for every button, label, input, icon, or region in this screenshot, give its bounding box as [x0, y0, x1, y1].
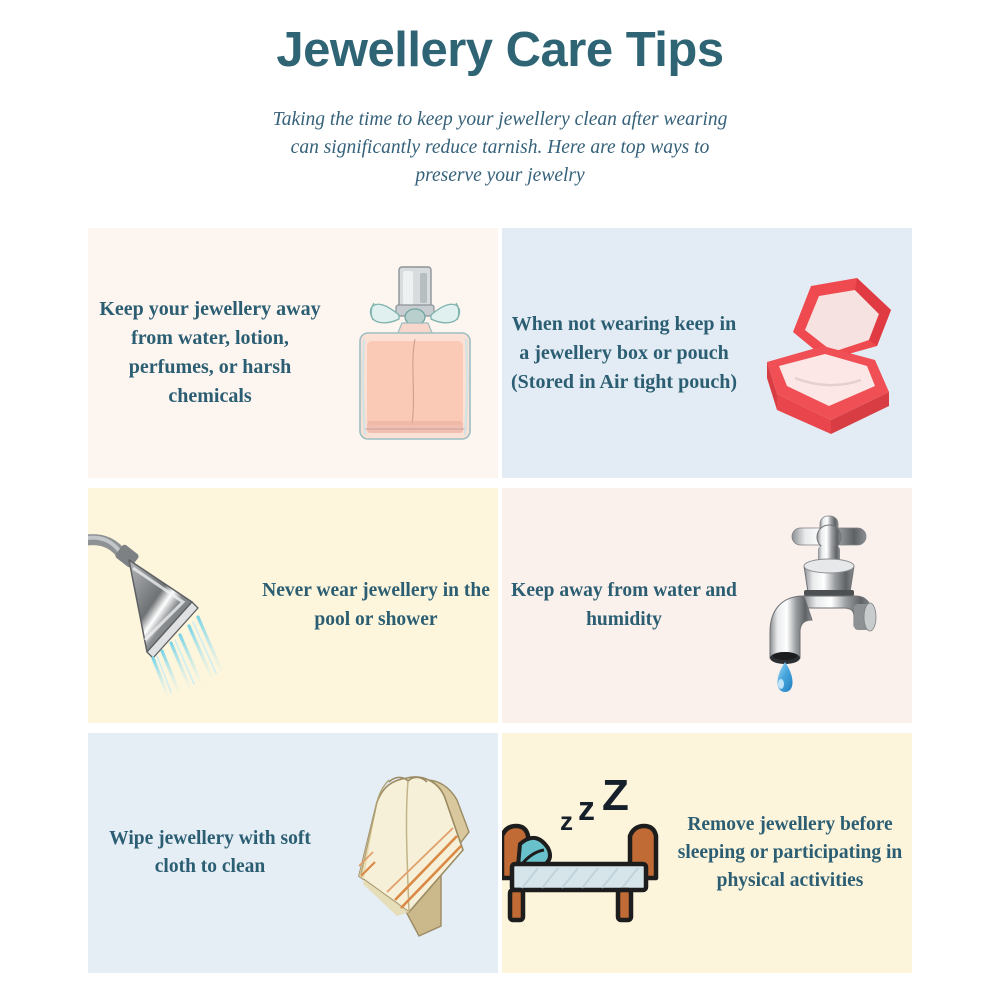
tip-card-illustration	[332, 228, 498, 478]
tip-card-illustration	[746, 488, 912, 723]
tip-card-cloth[interactable]: Wipe jewellery with soft cloth to clean	[88, 733, 498, 973]
tips-grid: Keep your jewellery away from water, lot…	[88, 228, 912, 973]
perfume-bottle-icon	[340, 253, 490, 453]
sleep-z-large: Z	[602, 771, 629, 820]
cleaning-cloth-icon	[345, 766, 485, 941]
infographic-page: Jewellery Care Tips Taking the time to k…	[0, 0, 1000, 1000]
tip-card-text: Wipe jewellery with soft cloth to clean	[88, 825, 332, 882]
tip-card-text: When not wearing keep in a jewellery box…	[502, 310, 746, 397]
sleep-z-medium: z	[578, 790, 595, 828]
tip-card-perfume[interactable]: Keep your jewellery away from water, lot…	[88, 228, 498, 478]
header: Jewellery Care Tips Taking the time to k…	[0, 0, 1000, 189]
tip-card-text: Remove jewellery before sleeping or part…	[668, 811, 912, 896]
ring-box-icon	[749, 268, 909, 438]
faucet-icon	[754, 516, 904, 696]
page-title: Jewellery Care Tips	[0, 14, 1000, 78]
tip-card-text: Keep away from water and humidity	[502, 577, 746, 634]
tip-card-text: Never wear jewellery in the pool or show…	[254, 577, 498, 634]
page-subtitle: Taking the time to keep your jewellery c…	[270, 106, 730, 189]
tip-card-text: Keep your jewellery away from water, lot…	[88, 295, 332, 411]
tip-card-jewellery-box[interactable]: When not wearing keep in a jewellery box…	[502, 228, 912, 478]
tip-card-shower[interactable]: Never wear jewellery in the pool or show…	[88, 488, 498, 723]
sleep-z-small: z	[560, 806, 573, 836]
tip-card-illustration: z z Z	[502, 733, 668, 973]
tip-card-illustration	[332, 733, 498, 973]
tip-card-illustration	[746, 228, 912, 478]
shower-head-icon	[88, 518, 254, 693]
tip-card-sleep[interactable]: Remove jewellery before sleeping or part…	[502, 733, 912, 973]
tip-card-faucet[interactable]: Keep away from water and humidity	[502, 488, 912, 723]
bed-sleep-icon: z z Z	[502, 778, 668, 928]
tip-card-illustration	[88, 488, 254, 723]
